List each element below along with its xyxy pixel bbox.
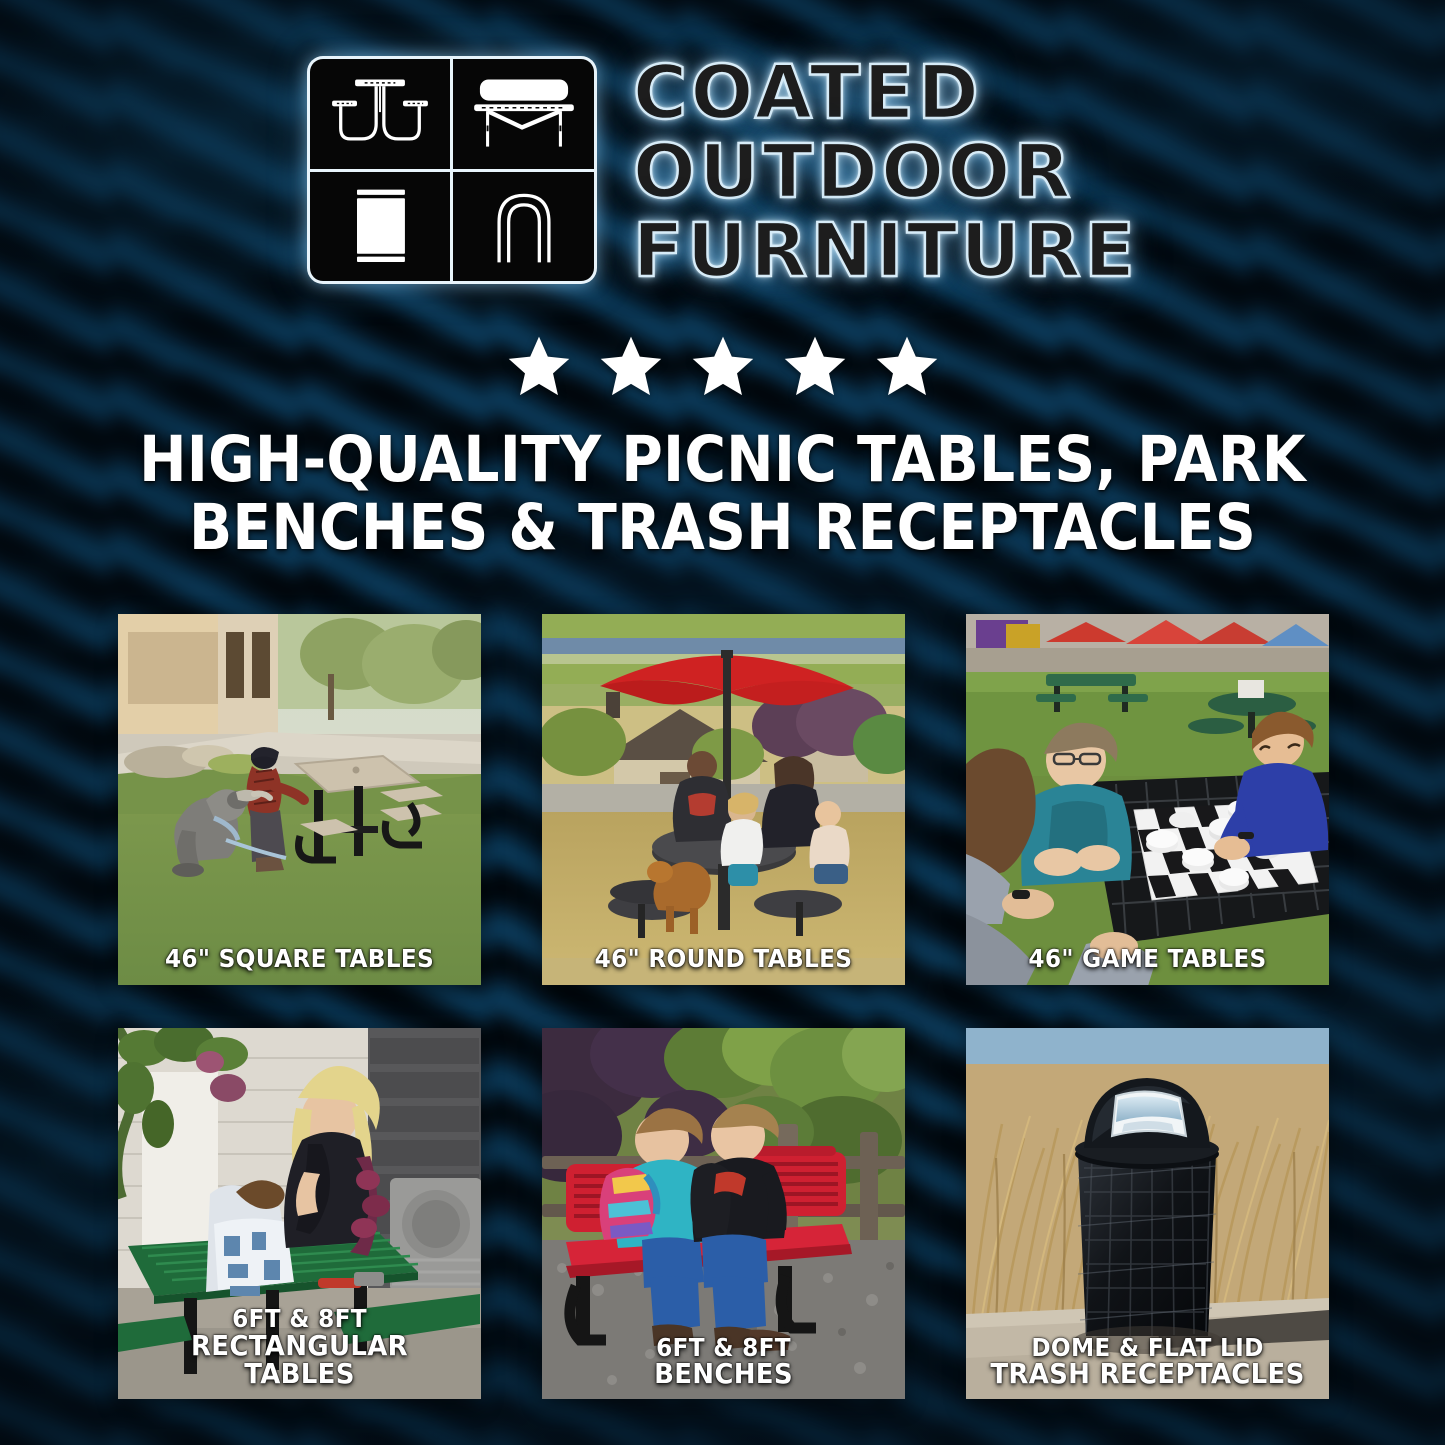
product-caption: 46" ROUND TABLES [560,946,886,972]
page-headline: HIGH-QUALITY PICNIC TABLES, PARK BENCHES… [60,428,1385,561]
product-caption-line-2: BENCHES [560,1360,886,1389]
product-photo-round-tables [542,614,905,985]
logo-mark [307,56,597,284]
star-rating [0,333,1445,399]
promo-poster: COATED OUTDOOR FURNITURE HIGH-QUALITY PI… [0,0,1445,1445]
bench-table-side-icon [453,59,594,169]
product-tile-trash-receptacles[interactable]: DOME & FLAT LID TRASH RECEPTACLES [966,1028,1329,1399]
product-tile-benches[interactable]: 6FT & 8FT BENCHES [542,1028,905,1399]
product-caption: 46" SQUARE TABLES [136,946,462,972]
product-caption-line-1: 46" ROUND TABLES [595,944,853,973]
picnic-table-icon [310,59,451,169]
star-icon [597,333,665,399]
product-caption-line-1: 46" SQUARE TABLES [165,944,434,973]
star-icon [873,333,941,399]
product-caption-line-2: RECTANGULAR TABLES [136,1332,462,1389]
product-tile-game-tables[interactable]: 46" GAME TABLES [966,614,1329,985]
trash-receptacle-icon [310,172,451,282]
product-caption: 6FT & 8FT RECTANGULAR TABLES [136,1306,462,1389]
product-photo-game-tables [966,614,1329,985]
star-icon [505,333,573,399]
product-grid: 46" SQUARE TABLES [118,614,1330,1399]
product-tile-rectangular-tables[interactable]: 6FT & 8FT RECTANGULAR TABLES [118,1028,481,1399]
brand-header: COATED OUTDOOR FURNITURE [0,56,1445,287]
product-photo-square-tables [118,614,481,985]
bike-rack-arch-icon [453,172,594,282]
product-tile-round-tables[interactable]: 46" ROUND TABLES [542,614,905,985]
product-caption-line-1: 46" GAME TABLES [1028,944,1266,973]
star-icon [781,333,849,399]
product-caption: DOME & FLAT LID TRASH RECEPTACLES [984,1335,1310,1389]
product-tile-square-tables[interactable]: 46" SQUARE TABLES [118,614,481,985]
product-caption: 46" GAME TABLES [984,946,1310,972]
brand-name-line-2: OUTDOOR [633,137,1138,208]
brand-wordmark: COATED OUTDOOR FURNITURE [633,56,1138,287]
brand-name-line-3: FURNITURE [633,216,1138,287]
headline-line-1: HIGH-QUALITY PICNIC TABLES, PARK [126,428,1319,492]
brand-name-line-1: COATED [633,58,1138,129]
star-icon [689,333,757,399]
product-caption-line-2: TRASH RECEPTACLES [984,1360,1310,1389]
headline-line-2: BENCHES & TRASH RECEPTACLES [126,496,1319,560]
product-caption: 6FT & 8FT BENCHES [560,1335,886,1389]
